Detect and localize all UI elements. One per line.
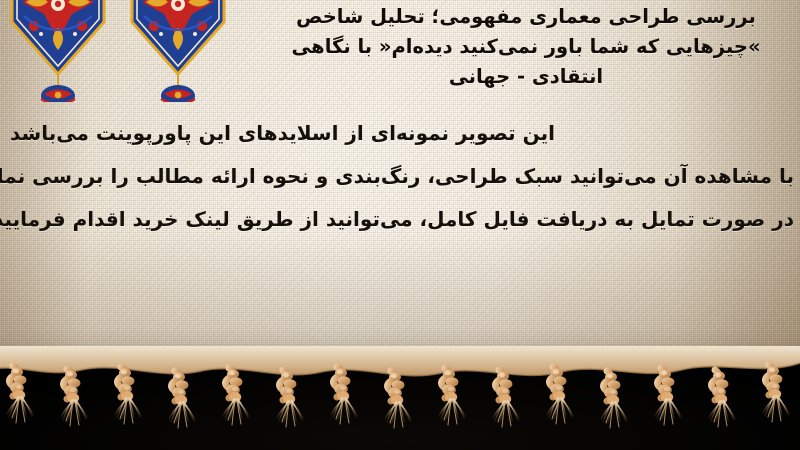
title-line-3: انتقادی - جهانی xyxy=(256,62,796,92)
slide-body: این تصویر نمونه‌ای از اسلایدهای این پاور… xyxy=(10,112,794,241)
title-line-2: »چیزهایی که شما باور نمی‌کنید دیده‌ام« ب… xyxy=(256,32,796,62)
title-line-1: بررسی طراحی معماری مفهومی؛ تحلیل شاخص xyxy=(256,2,796,32)
body-line-3: در صورت تمایل به دریافت فایل کامل، می‌تو… xyxy=(10,198,794,241)
body-line-1: این تصویر نمونه‌ای از اسلایدهای این پاور… xyxy=(10,112,794,155)
slide-canvas: بررسی طراحی معماری مفهومی؛ تحلیل شاخص »چ… xyxy=(0,0,800,450)
carpet-fringe-zone xyxy=(0,346,800,450)
fringe-tassels xyxy=(7,365,789,428)
body-line-2: با مشاهده آن می‌توانید سبک طراحی، رنگ‌بن… xyxy=(10,155,794,198)
slide-title: بررسی طراحی معماری مفهومی؛ تحلیل شاخص »چ… xyxy=(256,2,796,92)
